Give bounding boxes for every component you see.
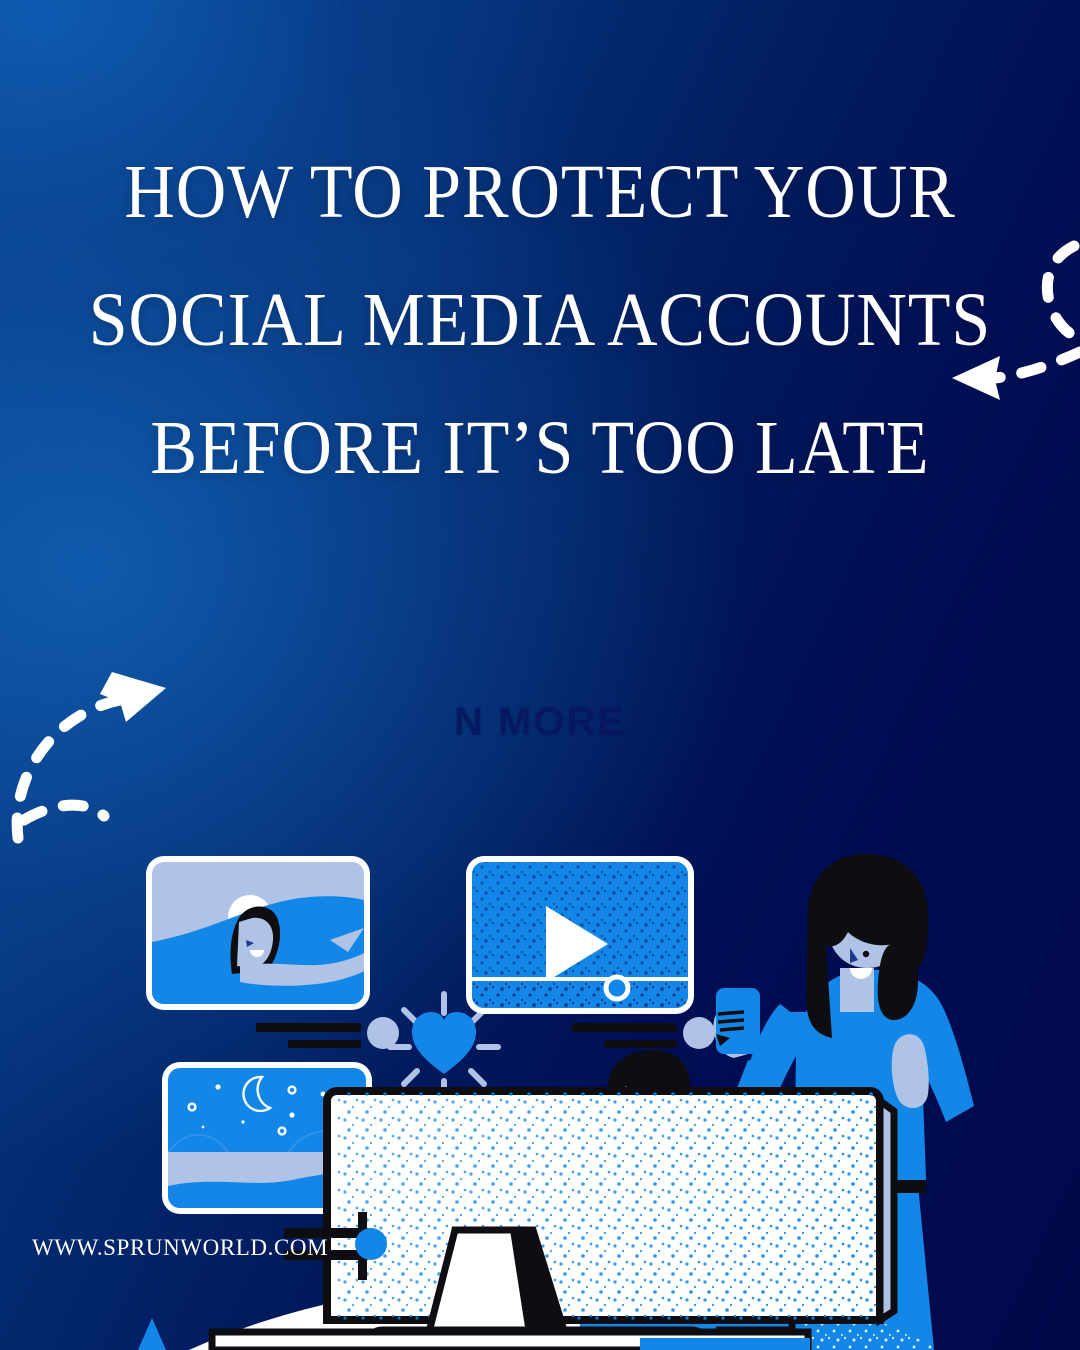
illustration-stage [0, 0, 1080, 1350]
video-card[interactable] [466, 856, 715, 1049]
caption-line-2 [288, 1040, 361, 1048]
caption-line-1 [256, 1023, 361, 1032]
dashed-arrow-left [952, 246, 1080, 400]
video-progress-handle[interactable] [606, 977, 628, 999]
desk-accent-triangle [138, 1318, 166, 1350]
video-progress-bar[interactable] [472, 977, 688, 981]
caption-line-2 [604, 1040, 677, 1048]
desktop-monitor[interactable] [284, 1091, 894, 1350]
monitor-side [880, 1101, 894, 1320]
website-url[interactable]: WWW.SPRUNWORLD.COM [32, 1235, 328, 1261]
woman-eye [863, 951, 869, 957]
beach-photo-card[interactable] [146, 856, 404, 1049]
caption-line-1 [572, 1023, 677, 1032]
caption-dot[interactable] [683, 1017, 715, 1049]
poster-canvas: HOW TO PROTECT YOUR SOCIAL MEDIA ACCOUNT… [0, 0, 1080, 1350]
dashed-arrow-right [17, 672, 166, 838]
woman-fist [892, 1034, 929, 1108]
